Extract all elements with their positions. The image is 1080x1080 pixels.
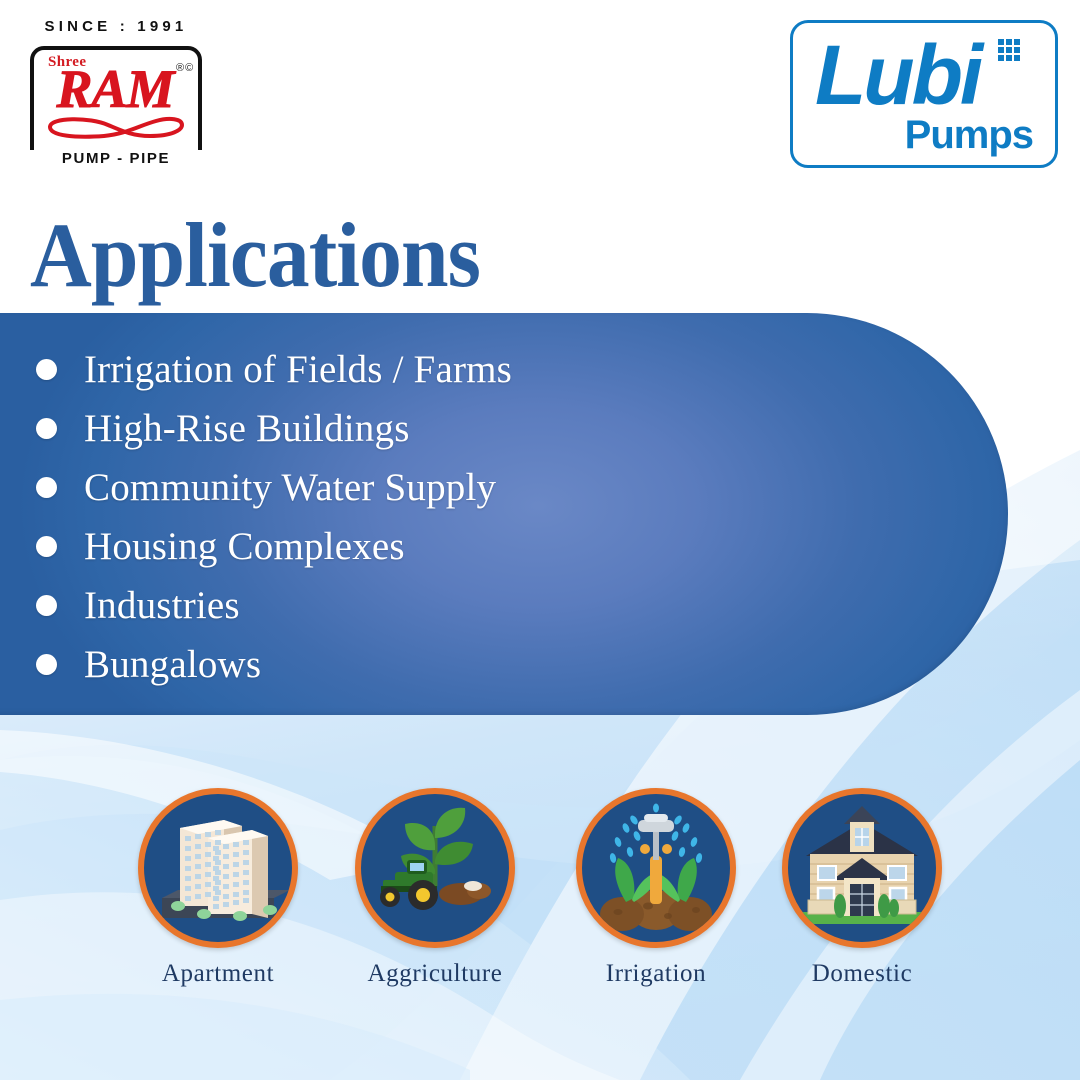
application-item-domestic[interactable]: Domestic — [772, 788, 952, 988]
tractor-plant-icon — [361, 794, 509, 942]
bullet-icon — [36, 359, 57, 380]
list-item: Industries — [36, 576, 856, 635]
shree-ram-logo: SINCE : 1991 Shree RAM ®© PUMP - PIPE — [16, 18, 216, 168]
pumps-label: Pumps — [901, 115, 1037, 155]
irrigation-circle[interactable] — [576, 788, 736, 948]
applications-list: Irrigation of Fields / Farms High-Rise B… — [36, 340, 856, 694]
application-label: Irrigation — [566, 960, 746, 988]
list-item: Housing Complexes — [36, 517, 856, 576]
grid-dots-icon — [998, 39, 1024, 65]
house-icon — [788, 794, 936, 942]
apartment-circle[interactable] — [138, 788, 298, 948]
sprinkler-icon — [582, 794, 730, 942]
since-label: SINCE : 1991 — [16, 18, 216, 35]
pump-pipe-label: PUMP - PIPE — [16, 150, 216, 167]
list-item-label: Housing Complexes — [84, 527, 405, 566]
list-item: Community Water Supply — [36, 458, 856, 517]
application-label: Domestic — [772, 960, 952, 988]
domestic-circle[interactable] — [782, 788, 942, 948]
application-item-agriculture[interactable]: Aggriculture — [345, 788, 525, 988]
list-item-label: Industries — [84, 586, 240, 625]
ram-wordmark: RAM — [40, 62, 190, 116]
agriculture-circle[interactable] — [355, 788, 515, 948]
bullet-icon — [36, 536, 57, 557]
list-item-label: Irrigation of Fields / Farms — [84, 350, 512, 389]
application-label: Apartment — [128, 960, 308, 988]
list-item-label: Community Water Supply — [84, 468, 496, 507]
application-item-apartment[interactable]: Apartment — [128, 788, 308, 988]
bullet-icon — [36, 654, 57, 675]
bullet-icon — [36, 418, 57, 439]
bullet-icon — [36, 595, 57, 616]
list-item-label: Bungalows — [84, 645, 261, 684]
list-item-label: High-Rise Buildings — [84, 409, 410, 448]
list-item: High-Rise Buildings — [36, 399, 856, 458]
lubi-wordmark: Lubi — [815, 33, 980, 117]
list-item: Bungalows — [36, 635, 856, 694]
page-title: Applications — [30, 209, 480, 301]
application-item-irrigation[interactable]: Irrigation — [566, 788, 746, 988]
bullet-icon — [36, 477, 57, 498]
trademark-marks: ®© — [176, 62, 194, 74]
ribbon-flourish-icon — [46, 114, 186, 140]
apartment-buildings-icon — [144, 794, 292, 942]
lubi-pumps-logo: Lubi Pumps — [790, 20, 1058, 168]
list-item: Irrigation of Fields / Farms — [36, 340, 856, 399]
poster-canvas: SINCE : 1991 Shree RAM ®© PUMP - PIPE Lu… — [0, 0, 1080, 1080]
application-label: Aggriculture — [345, 960, 525, 988]
